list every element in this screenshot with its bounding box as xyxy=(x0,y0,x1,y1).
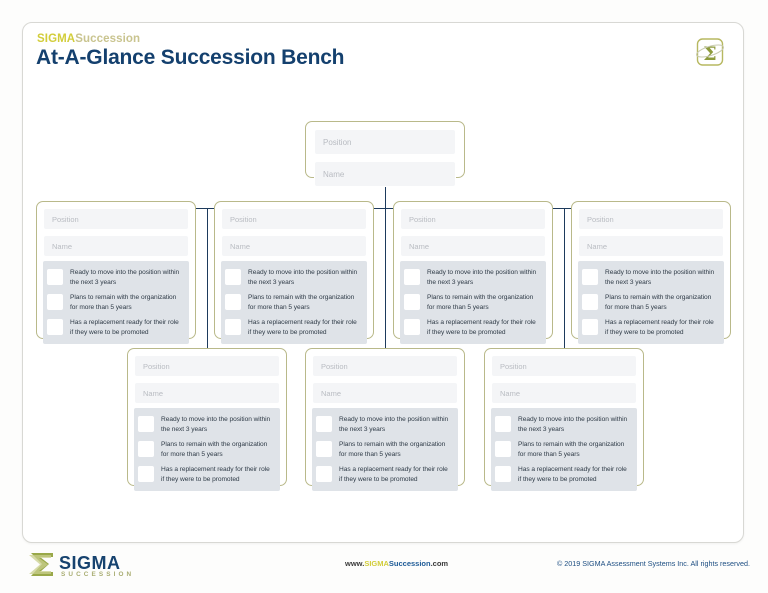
org-node-l3-2[interactable]: Position Name Ready to move into the pos… xyxy=(305,348,465,486)
criteria-checkbox[interactable] xyxy=(138,441,154,457)
criteria-label: Has a replacement ready for their role i… xyxy=(70,318,181,337)
page-footer: SIGMA SUCCESSION www.SIGMASuccession.com… xyxy=(0,543,768,593)
criteria-label: Has a replacement ready for their role i… xyxy=(427,318,538,337)
criteria-row[interactable]: Plans to remain with the organization fo… xyxy=(578,290,720,315)
criteria-row[interactable]: Has a replacement ready for their role i… xyxy=(134,462,276,487)
footer-copyright: © 2019 SIGMA Assessment Systems Inc. All… xyxy=(557,559,750,568)
criteria-label: Has a replacement ready for their role i… xyxy=(518,465,629,484)
position-placeholder: Position xyxy=(587,215,614,224)
connector-drop-l3-2 xyxy=(385,208,386,371)
criteria-checkbox[interactable] xyxy=(582,269,598,285)
criteria-row[interactable]: Ready to move into the position within t… xyxy=(491,412,633,437)
position-field[interactable]: Position xyxy=(312,355,458,377)
name-field[interactable]: Name xyxy=(491,382,637,404)
sigma-logo-icon: Σ xyxy=(693,35,727,69)
worksheet-card: SIGMASuccession At-A-Glance Succession B… xyxy=(22,22,744,543)
criteria-row[interactable]: Has a replacement ready for their role i… xyxy=(491,462,633,487)
criteria-row[interactable]: Plans to remain with the organization fo… xyxy=(134,437,276,462)
name-placeholder: Name xyxy=(230,242,250,251)
url-succession: Succession xyxy=(389,559,431,568)
position-placeholder: Position xyxy=(323,138,351,147)
criteria-row[interactable]: Has a replacement ready for their role i… xyxy=(43,315,185,340)
criteria-row[interactable]: Ready to move into the position within t… xyxy=(221,265,363,290)
criteria-label: Ready to move into the position within t… xyxy=(427,268,538,287)
name-placeholder: Name xyxy=(409,242,429,251)
criteria-row[interactable]: Plans to remain with the organization fo… xyxy=(400,290,542,315)
criteria-checkbox[interactable] xyxy=(47,294,63,310)
name-placeholder: Name xyxy=(52,242,72,251)
name-placeholder: Name xyxy=(323,170,344,179)
criteria-label: Plans to remain with the organization fo… xyxy=(605,293,716,312)
org-node-l3-3[interactable]: Position Name Ready to move into the pos… xyxy=(484,348,644,486)
criteria-checkbox[interactable] xyxy=(225,269,241,285)
criteria-row[interactable]: Ready to move into the position within t… xyxy=(134,412,276,437)
page-title: At-A-Glance Succession Bench xyxy=(36,46,344,70)
criteria-checkbox[interactable] xyxy=(582,319,598,335)
criteria-label: Has a replacement ready for their role i… xyxy=(339,465,450,484)
org-node-l3-1[interactable]: Position Name Ready to move into the pos… xyxy=(127,348,287,486)
position-placeholder: Position xyxy=(230,215,257,224)
position-placeholder: Position xyxy=(321,362,348,371)
criteria-row[interactable]: Ready to move into the position within t… xyxy=(43,265,185,290)
name-field[interactable]: Name xyxy=(134,382,280,404)
criteria-checkbox[interactable] xyxy=(404,294,420,310)
criteria-label: Plans to remain with the organization fo… xyxy=(161,440,272,459)
criteria-row[interactable]: Plans to remain with the organization fo… xyxy=(312,437,454,462)
criteria-row[interactable]: Plans to remain with the organization fo… xyxy=(491,437,633,462)
criteria-checkbox[interactable] xyxy=(225,319,241,335)
criteria-checkbox[interactable] xyxy=(47,319,63,335)
criteria-checkbox[interactable] xyxy=(138,466,154,482)
criteria-checklist: Ready to move into the position within t… xyxy=(578,261,724,344)
criteria-checkbox[interactable] xyxy=(495,416,511,432)
criteria-checkbox[interactable] xyxy=(582,294,598,310)
criteria-checkbox[interactable] xyxy=(404,269,420,285)
name-placeholder: Name xyxy=(587,242,607,251)
page-root: SIGMASuccession At-A-Glance Succession B… xyxy=(0,0,768,593)
criteria-checkbox[interactable] xyxy=(316,441,332,457)
brand-sigma-text: SIGMA xyxy=(37,33,75,45)
name-field[interactable]: Name xyxy=(221,235,367,257)
criteria-label: Plans to remain with the organization fo… xyxy=(339,440,450,459)
criteria-row[interactable]: Ready to move into the position within t… xyxy=(312,412,454,437)
org-node-l2-3[interactable]: Position Name Ready to move into the pos… xyxy=(393,201,553,339)
criteria-label: Plans to remain with the organization fo… xyxy=(70,293,181,312)
url-www: www. xyxy=(345,559,364,568)
connector-drop-l3-1 xyxy=(207,208,208,371)
criteria-label: Ready to move into the position within t… xyxy=(339,415,450,434)
criteria-row[interactable]: Ready to move into the position within t… xyxy=(400,265,542,290)
position-field[interactable]: Position xyxy=(400,208,546,230)
svg-text:SIGMA: SIGMA xyxy=(59,553,121,573)
name-field[interactable]: Name xyxy=(43,235,189,257)
criteria-checkbox[interactable] xyxy=(495,441,511,457)
sigma-succession-logo-icon: SIGMA SUCCESSION xyxy=(27,549,147,579)
succession-chart: Position Name Position Name Ready to mov xyxy=(23,23,745,544)
connector-drop-l3-3 xyxy=(564,208,565,371)
name-field[interactable]: Name xyxy=(400,235,546,257)
org-node-root[interactable]: Position Name xyxy=(305,121,465,178)
criteria-checklist: Ready to move into the position within t… xyxy=(400,261,546,344)
position-field[interactable]: Position xyxy=(221,208,367,230)
position-field[interactable]: Position xyxy=(43,208,189,230)
url-sigma: SIGMA xyxy=(364,559,389,568)
org-node-l2-1[interactable]: Position Name Ready to move into the pos… xyxy=(36,201,196,339)
brand-succession-text: Succession xyxy=(75,33,140,45)
name-placeholder: Name xyxy=(321,389,341,398)
position-field[interactable]: Position xyxy=(578,208,724,230)
criteria-checklist: Ready to move into the position within t… xyxy=(43,261,189,344)
criteria-label: Ready to move into the position within t… xyxy=(248,268,359,287)
svg-text:SUCCESSION: SUCCESSION xyxy=(61,571,134,578)
criteria-label: Ready to move into the position within t… xyxy=(161,415,272,434)
criteria-row[interactable]: Has a replacement ready for their role i… xyxy=(400,315,542,340)
name-field[interactable]: Name xyxy=(312,382,458,404)
position-field[interactable]: Position xyxy=(314,129,456,155)
org-node-l2-4[interactable]: Position Name Ready to move into the pos… xyxy=(571,201,731,339)
name-placeholder: Name xyxy=(500,389,520,398)
position-placeholder: Position xyxy=(143,362,170,371)
position-field[interactable]: Position xyxy=(134,355,280,377)
position-field[interactable]: Position xyxy=(491,355,637,377)
criteria-checkbox[interactable] xyxy=(495,466,511,482)
criteria-label: Has a replacement ready for their role i… xyxy=(161,465,272,484)
criteria-checkbox[interactable] xyxy=(316,466,332,482)
name-field[interactable]: Name xyxy=(314,161,456,187)
position-placeholder: Position xyxy=(52,215,79,224)
position-placeholder: Position xyxy=(409,215,436,224)
org-node-l2-2[interactable]: Position Name Ready to move into the pos… xyxy=(214,201,374,339)
criteria-label: Plans to remain with the organization fo… xyxy=(518,440,629,459)
criteria-checklist: Ready to move into the position within t… xyxy=(491,408,637,491)
brand-lockup: SIGMASuccession xyxy=(37,33,140,45)
criteria-row[interactable]: Has a replacement ready for their role i… xyxy=(221,315,363,340)
criteria-checkbox[interactable] xyxy=(225,294,241,310)
url-com: .com xyxy=(431,559,449,568)
criteria-row[interactable]: Plans to remain with the organization fo… xyxy=(43,290,185,315)
name-field[interactable]: Name xyxy=(578,235,724,257)
criteria-label: Plans to remain with the organization fo… xyxy=(427,293,538,312)
criteria-label: Has a replacement ready for their role i… xyxy=(248,318,359,337)
criteria-checklist: Ready to move into the position within t… xyxy=(221,261,367,344)
criteria-row[interactable]: Ready to move into the position within t… xyxy=(578,265,720,290)
criteria-checklist: Ready to move into the position within t… xyxy=(312,408,458,491)
criteria-row[interactable]: Plans to remain with the organization fo… xyxy=(221,290,363,315)
criteria-label: Ready to move into the position within t… xyxy=(70,268,181,287)
name-placeholder: Name xyxy=(143,389,163,398)
criteria-label: Ready to move into the position within t… xyxy=(518,415,629,434)
criteria-checklist: Ready to move into the position within t… xyxy=(134,408,280,491)
criteria-row[interactable]: Has a replacement ready for their role i… xyxy=(312,462,454,487)
position-placeholder: Position xyxy=(500,362,527,371)
criteria-label: Has a replacement ready for their role i… xyxy=(605,318,716,337)
footer-website-link[interactable]: www.SIGMASuccession.com xyxy=(345,559,448,568)
criteria-checkbox[interactable] xyxy=(404,319,420,335)
criteria-checkbox[interactable] xyxy=(316,416,332,432)
criteria-checkbox[interactable] xyxy=(47,269,63,285)
criteria-checkbox[interactable] xyxy=(138,416,154,432)
criteria-row[interactable]: Has a replacement ready for their role i… xyxy=(578,315,720,340)
criteria-label: Ready to move into the position within t… xyxy=(605,268,716,287)
criteria-label: Plans to remain with the organization fo… xyxy=(248,293,359,312)
